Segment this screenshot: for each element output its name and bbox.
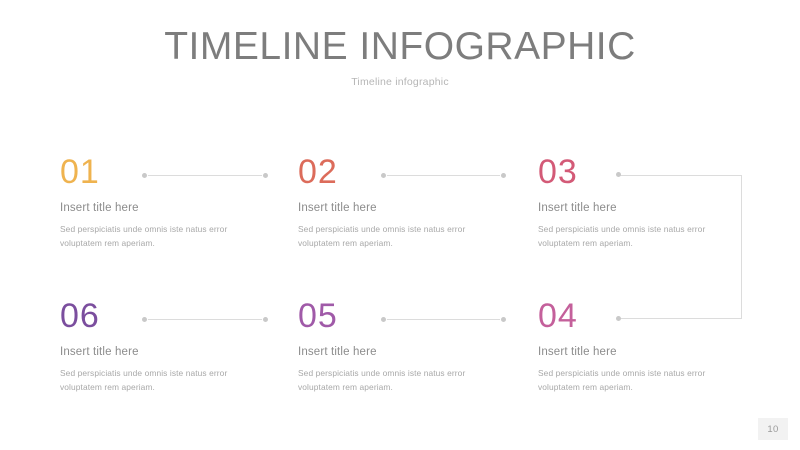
- connector-06-to-05: [143, 316, 267, 323]
- connector-01-to-02: [143, 172, 267, 179]
- timeline-item-01[interactable]: 01 Insert title here Sed perspiciatis un…: [60, 152, 275, 250]
- timeline-item-01-title: Insert title here: [60, 202, 275, 214]
- slide-header: TIMELINE INFOGRAPHIC Timeline infographi…: [0, 24, 800, 88]
- connector-segment-right: [741, 175, 742, 319]
- connector-line: [143, 319, 267, 320]
- connector-dot-start: [141, 172, 148, 179]
- timeline-item-02[interactable]: 02 Insert title here Sed perspiciatis un…: [298, 152, 513, 250]
- timeline-item-01-body: Sed perspiciatis unde omnis iste natus e…: [60, 223, 240, 250]
- connector-dot-start: [380, 316, 387, 323]
- connector-line: [382, 175, 505, 176]
- timeline-item-05-title: Insert title here: [298, 346, 513, 358]
- connector-dot-start: [141, 316, 148, 323]
- connector-dot-start: [616, 172, 621, 177]
- connector-05-to-04: [382, 316, 505, 323]
- connector-segment-bottom: [619, 318, 742, 319]
- connector-02-to-03: [382, 172, 505, 179]
- connector-03-to-04-wraparound: [616, 172, 742, 319]
- connector-segment-top: [619, 175, 742, 176]
- page-title: TIMELINE INFOGRAPHIC: [0, 24, 800, 70]
- connector-line: [382, 319, 505, 320]
- connector-dot-end: [262, 172, 269, 179]
- timeline-item-04-body: Sed perspiciatis unde omnis iste natus e…: [538, 367, 718, 394]
- timeline-item-04-title: Insert title here: [538, 346, 753, 358]
- timeline-item-02-title: Insert title here: [298, 202, 513, 214]
- page-number-badge: 10: [758, 418, 788, 440]
- connector-dot-start: [380, 172, 387, 179]
- timeline-item-05[interactable]: 05 Insert title here Sed perspiciatis un…: [298, 296, 513, 394]
- connector-line: [143, 175, 267, 176]
- connector-dot-end: [616, 316, 621, 321]
- timeline-item-06-title: Insert title here: [60, 346, 275, 358]
- page-number-label: 10: [767, 424, 778, 435]
- timeline-item-02-body: Sed perspiciatis unde omnis iste natus e…: [298, 223, 478, 250]
- timeline-item-06-body: Sed perspiciatis unde omnis iste natus e…: [60, 367, 240, 394]
- connector-dot-end: [500, 172, 507, 179]
- connector-dot-end: [500, 316, 507, 323]
- page-subtitle: Timeline infographic: [0, 76, 800, 88]
- timeline-item-05-body: Sed perspiciatis unde omnis iste natus e…: [298, 367, 478, 394]
- connector-dot-end: [262, 316, 269, 323]
- timeline-item-06[interactable]: 06 Insert title here Sed perspiciatis un…: [60, 296, 275, 394]
- slide-canvas: TIMELINE INFOGRAPHIC Timeline infographi…: [0, 0, 800, 450]
